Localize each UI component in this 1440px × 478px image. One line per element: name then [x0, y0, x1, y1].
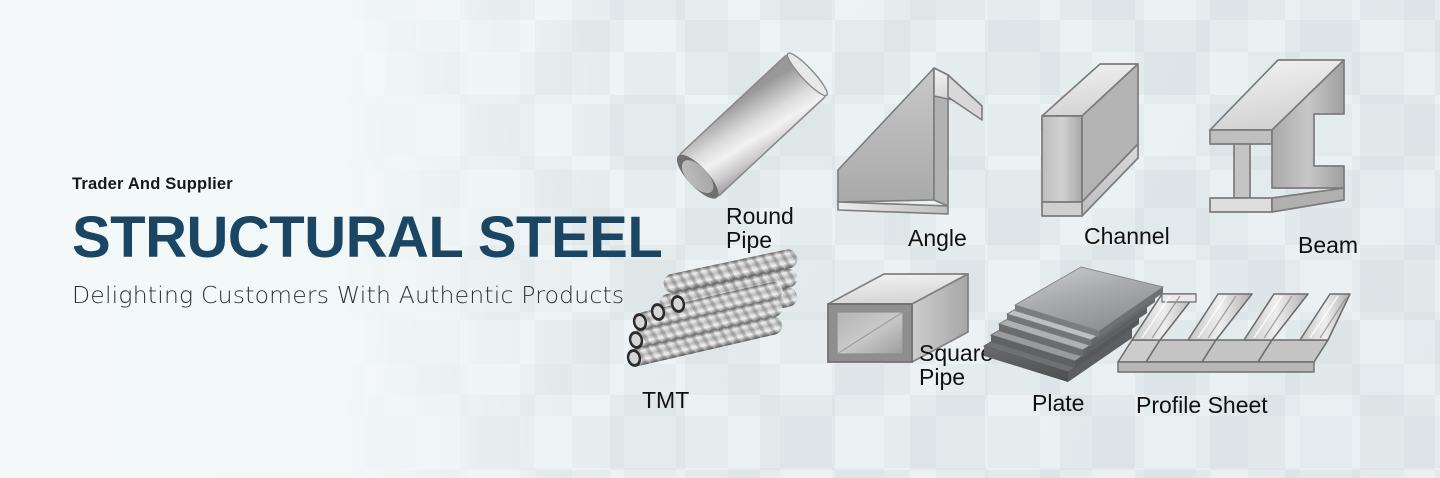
product-channel: Channel	[1020, 50, 1190, 225]
banner-copy: Trader And Supplier STRUCTURAL STEEL Del…	[72, 175, 662, 309]
structural-steel-banner: Trader And Supplier STRUCTURAL STEEL Del…	[0, 0, 1440, 478]
angle-label: Angle	[908, 227, 967, 251]
round-pipe-label: Round Pipe	[726, 205, 794, 253]
profile-sheet-icon	[1118, 284, 1353, 394]
channel-label: Channel	[1084, 225, 1170, 249]
round-pipe-icon	[638, 62, 828, 222]
beam-icon	[1198, 48, 1388, 233]
tmt-icon	[628, 270, 798, 380]
plate-label: Plate	[1032, 392, 1084, 416]
product-square-pipe: Square Pipe	[818, 270, 983, 385]
beam-label: Beam	[1298, 234, 1358, 258]
product-angle: Angle	[824, 50, 1009, 225]
profile-sheet-label: Profile Sheet	[1136, 394, 1268, 418]
product-beam: Beam	[1198, 48, 1388, 233]
product-round-pipe: Round Pipe	[638, 62, 828, 222]
product-tmt: TMT	[628, 270, 798, 380]
eyebrow-text: Trader And Supplier	[72, 175, 662, 195]
product-illustrations: Round Pipe	[628, 22, 1428, 452]
angle-icon	[824, 50, 1009, 225]
channel-icon	[1020, 50, 1190, 225]
product-profile-sheet: Profile Sheet	[1118, 284, 1353, 394]
tmt-label: TMT	[642, 389, 689, 413]
subtitle-text: Delighting Customers With Authentic Prod…	[72, 281, 662, 309]
page-title: STRUCTURAL STEEL	[72, 209, 662, 267]
